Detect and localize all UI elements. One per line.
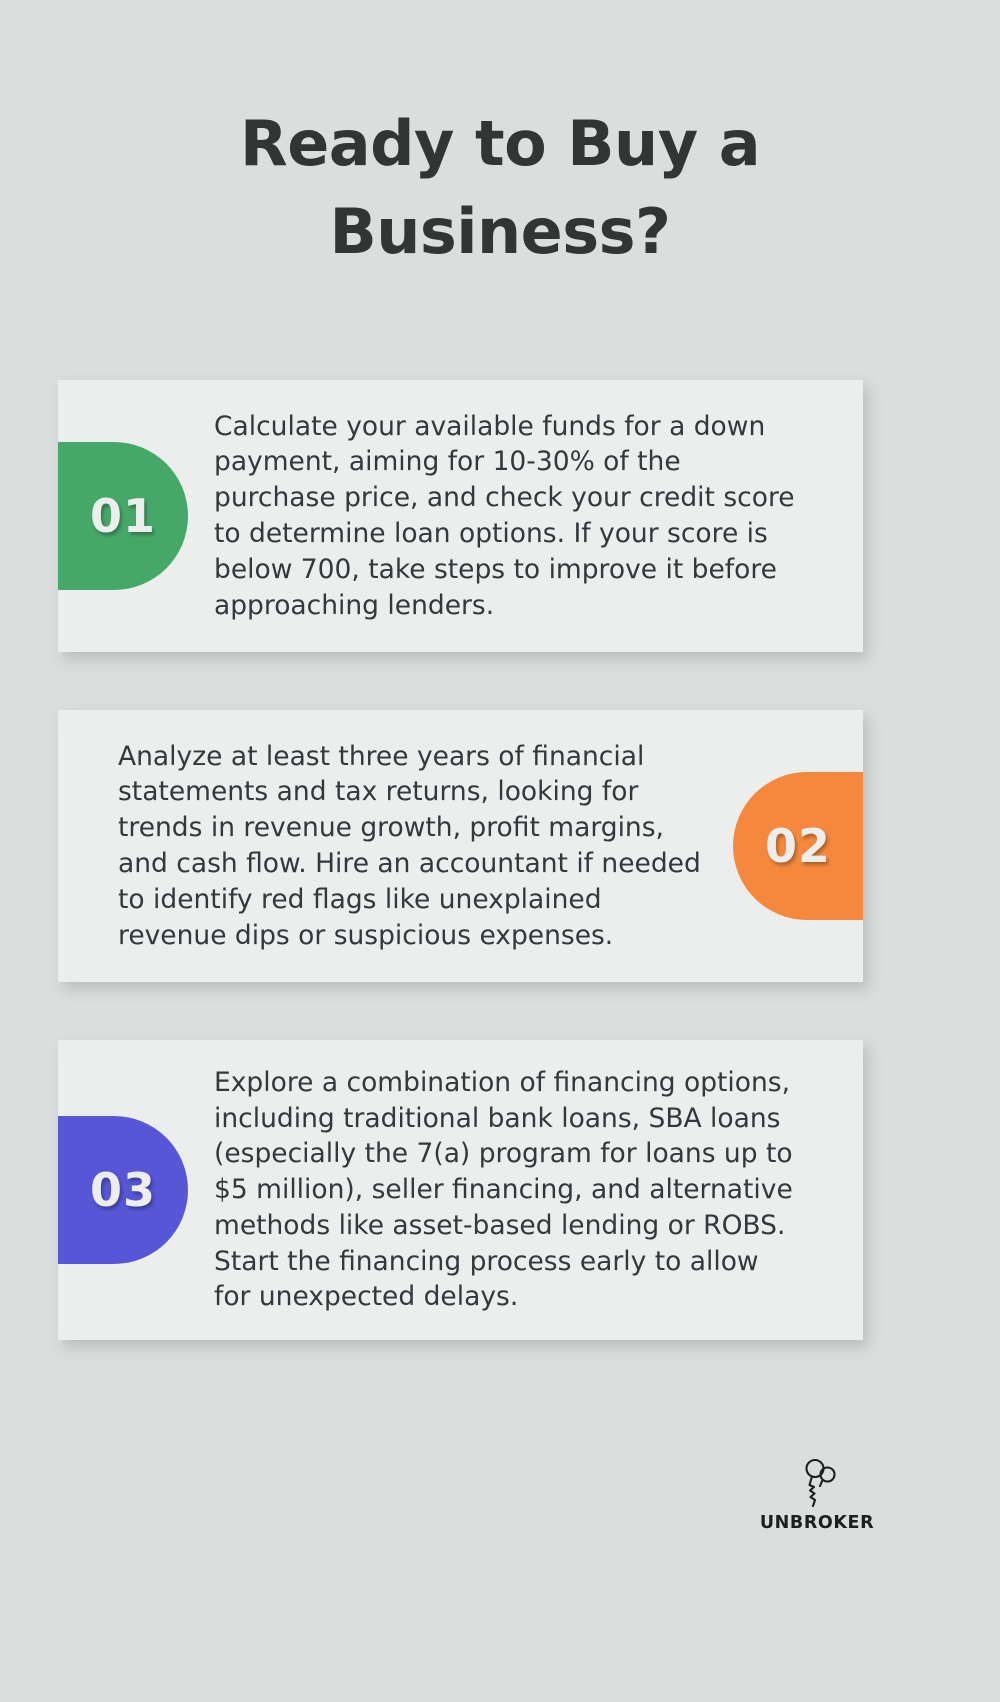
- step-card-3-inner: 03 Explore a combination of financing op…: [58, 1040, 863, 1340]
- step-number-label-1: 01: [90, 489, 156, 543]
- page-title-container: Ready to Buy a Business?: [0, 100, 1000, 276]
- step-number-badge-2: 02: [733, 772, 863, 920]
- step-number-badge-3: 03: [58, 1116, 188, 1264]
- step-card-3: 03 Explore a combination of financing op…: [58, 1040, 863, 1340]
- step-number-label-3: 03: [90, 1163, 156, 1217]
- step-description-3: Explore a combination of financing optio…: [188, 1065, 863, 1315]
- brand-logo: UNBROKER: [764, 1458, 870, 1533]
- step-number-badge-1: 01: [58, 442, 188, 590]
- brand-wordmark: UNBROKER: [760, 1513, 874, 1533]
- page-title: Ready to Buy a Business?: [120, 100, 880, 276]
- infographic-page: Ready to Buy a Business? 01 Calculate yo…: [0, 0, 1000, 1702]
- step-card-2: 02 Analyze at least three years of finan…: [58, 710, 863, 982]
- step-card-1-inner: 01 Calculate your available funds for a …: [58, 380, 863, 652]
- step-number-label-2: 02: [765, 819, 831, 873]
- step-description-2: Analyze at least three years of financia…: [58, 739, 733, 954]
- step-description-1: Calculate your available funds for a dow…: [188, 409, 863, 624]
- step-card-2-inner: 02 Analyze at least three years of finan…: [58, 710, 863, 982]
- keys-icon: [789, 1458, 845, 1508]
- step-card-1: 01 Calculate your available funds for a …: [58, 380, 863, 652]
